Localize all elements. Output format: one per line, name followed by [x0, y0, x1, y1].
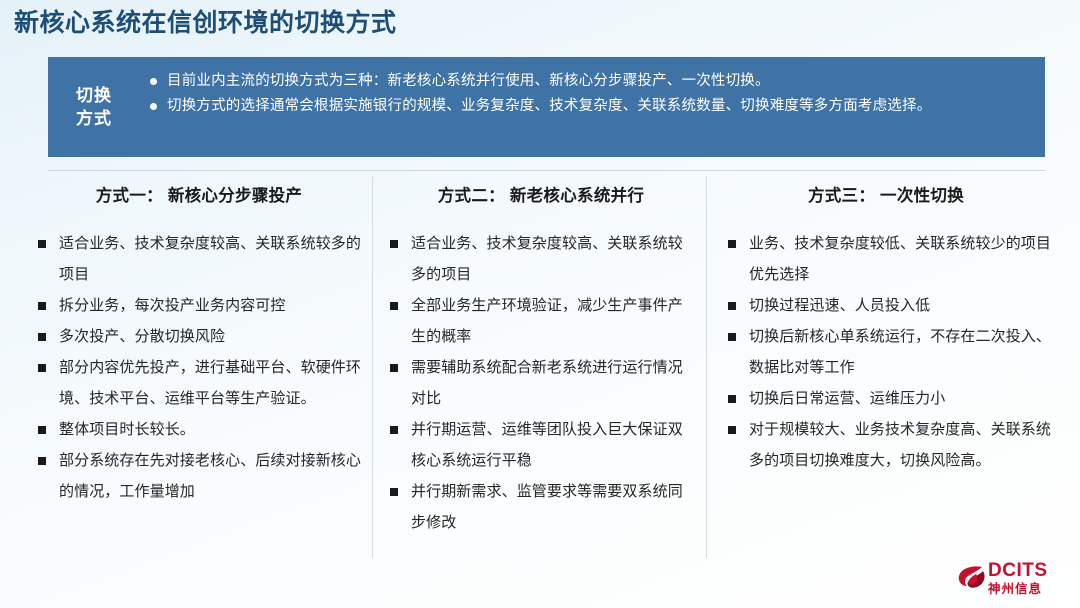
list-item-text: 拆分业务，每次投产业务内容可控 [59, 297, 286, 314]
list-item-text: 整体项目时长较长。 [59, 421, 195, 438]
list-item-text: 适合业务、技术复杂度较高、关联系统较多的项目 [411, 235, 683, 283]
list-item: 适合业务、技术复杂度较高、关联系统较多的项目 [386, 228, 696, 290]
column-heading: 方式一： 新核心分步骤投产 [34, 182, 364, 206]
list-item: 整体项目时长较长。 [34, 414, 364, 445]
list-item-text: 切换过程迅速、人员投入低 [749, 297, 930, 314]
bullet-square-icon [390, 302, 398, 310]
list-item: 切换过程迅速、人员投入低 [724, 290, 1052, 321]
list-item: 并行期新需求、监管要求等需要双系统同步修改 [386, 476, 696, 538]
header-divider [48, 170, 1045, 171]
list-item: 全部业务生产环境验证，减少生产事件产生的概率 [386, 290, 696, 352]
summary-bullet-text: 切换方式的选择通常会根据实施银行的规模、业务复杂度、技术复杂度、关联系统数量、切… [167, 98, 931, 114]
bullet-square-icon [38, 426, 46, 434]
list-item: 切换后新核心单系统运行，不存在二次投入、数据比对等工作 [724, 321, 1052, 383]
list-item-text: 切换后日常运营、运维压力小 [749, 390, 945, 407]
column-bullet-list: 适合业务、技术复杂度较高、关联系统较多的项目 全部业务生产环境验证，减少生产事件… [386, 228, 696, 538]
list-item: 部分内容优先投产，进行基础平台、软硬件环境、技术平台、运维平台等生产验证。 [34, 352, 364, 414]
bullet-square-icon [728, 395, 736, 403]
list-item: 部分系统存在先对接老核心、后续对接新核心的情况，工作量增加 [34, 445, 364, 507]
bullet-dot-icon [150, 78, 157, 85]
summary-panel-label-line1: 切换 [76, 84, 112, 107]
list-item-text: 需要辅助系统配合新老系统进行运行情况对比 [411, 359, 683, 407]
list-item-text: 部分内容优先投产，进行基础平台、软硬件环境、技术平台、运维平台等生产验证。 [59, 359, 361, 407]
logo-chinese-name: 神州信息 [988, 583, 1048, 596]
bullet-square-icon [728, 240, 736, 248]
summary-bullet: 切换方式的选择通常会根据实施银行的规模、业务复杂度、技术复杂度、关联系统数量、切… [148, 94, 1031, 119]
list-item-text: 并行期新需求、监管要求等需要双系统同步修改 [411, 483, 683, 531]
column-heading: 方式二： 新老核心系统并行 [386, 182, 696, 206]
summary-bullet-text: 目前业内主流的切换方式为三种：新老核心系统并行使用、新核心分步骤投产、一次性切换… [167, 73, 770, 89]
list-item: 拆分业务，每次投产业务内容可控 [34, 290, 364, 321]
summary-bullet: 目前业内主流的切换方式为三种：新老核心系统并行使用、新核心分步骤投产、一次性切换… [148, 69, 1031, 94]
list-item: 多次投产、分散切换风险 [34, 321, 364, 352]
bullet-square-icon [38, 364, 46, 372]
list-item-text: 多次投产、分散切换风险 [59, 328, 225, 345]
bullet-square-icon [38, 240, 46, 248]
column-bullet-list: 适合业务、技术复杂度较高、关联系统较多的项目 拆分业务，每次投产业务内容可控 多… [34, 228, 364, 507]
list-item-text: 并行期运营、运维等团队投入巨大保证双核心系统运行平稳 [411, 421, 683, 469]
bullet-square-icon [390, 364, 398, 372]
comparison-columns: 方式一： 新核心分步骤投产 适合业务、技术复杂度较高、关联系统较多的项目 拆分业… [20, 176, 1062, 562]
slide-canvas: 新核心系统在信创环境的切换方式 切换 方式 目前业内主流的切换方式为三种：新老核… [0, 0, 1080, 608]
summary-panel-label-line2: 方式 [76, 107, 112, 130]
list-item: 业务、技术复杂度较低、关联系统较少的项目优先选择 [724, 228, 1052, 290]
list-item: 需要辅助系统配合新老系统进行运行情况对比 [386, 352, 696, 414]
company-logo: DCITS 神州信息 [956, 556, 1068, 600]
list-item-text: 切换后新核心单系统运行，不存在二次投入、数据比对等工作 [749, 328, 1051, 376]
list-item: 对于规模较大、业务技术复杂度高、关联系统多的项目切换难度大，切换风险高。 [724, 414, 1052, 476]
logo-english-name: DCITS [988, 561, 1048, 580]
bullet-square-icon [390, 488, 398, 496]
dcits-swoosh-icon [956, 563, 986, 593]
list-item: 切换后日常运营、运维压力小 [724, 383, 1052, 414]
bullet-square-icon [728, 426, 736, 434]
summary-panel: 切换 方式 目前业内主流的切换方式为三种：新老核心系统并行使用、新核心分步骤投产… [48, 57, 1045, 157]
bullet-square-icon [38, 302, 46, 310]
bullet-dot-icon [150, 103, 157, 110]
list-item-text: 业务、技术复杂度较低、关联系统较少的项目优先选择 [749, 235, 1051, 283]
bullet-square-icon [728, 302, 736, 310]
list-item-text: 全部业务生产环境验证，减少生产事件产生的概率 [411, 297, 683, 345]
list-item: 并行期运营、运维等团队投入巨大保证双核心系统运行平稳 [386, 414, 696, 476]
summary-panel-label: 切换 方式 [48, 57, 140, 157]
list-item-text: 适合业务、技术复杂度较高、关联系统较多的项目 [59, 235, 361, 283]
column-bullet-list: 业务、技术复杂度较低、关联系统较少的项目优先选择 切换过程迅速、人员投入低 切换… [724, 228, 1052, 476]
bullet-square-icon [390, 240, 398, 248]
column-approach-two: 方式二： 新老核心系统并行 适合业务、技术复杂度较高、关联系统较多的项目 全部业… [372, 176, 706, 562]
list-item-text: 部分系统存在先对接老核心、后续对接新核心的情况，工作量增加 [59, 452, 361, 500]
bullet-square-icon [38, 457, 46, 465]
logo-text: DCITS 神州信息 [988, 561, 1048, 596]
bullet-square-icon [728, 333, 736, 341]
column-heading: 方式三： 一次性切换 [720, 182, 1052, 206]
column-approach-three: 方式三： 一次性切换 业务、技术复杂度较低、关联系统较少的项目优先选择 切换过程… [706, 176, 1062, 562]
bullet-square-icon [390, 426, 398, 434]
column-approach-one: 方式一： 新核心分步骤投产 适合业务、技术复杂度较高、关联系统较多的项目 拆分业… [20, 176, 372, 562]
bullet-square-icon [38, 333, 46, 341]
list-item: 适合业务、技术复杂度较高、关联系统较多的项目 [34, 228, 364, 290]
page-title: 新核心系统在信创环境的切换方式 [14, 6, 397, 40]
list-item-text: 对于规模较大、业务技术复杂度高、关联系统多的项目切换难度大，切换风险高。 [749, 421, 1051, 469]
summary-panel-body: 目前业内主流的切换方式为三种：新老核心系统并行使用、新核心分步骤投产、一次性切换… [140, 57, 1045, 157]
